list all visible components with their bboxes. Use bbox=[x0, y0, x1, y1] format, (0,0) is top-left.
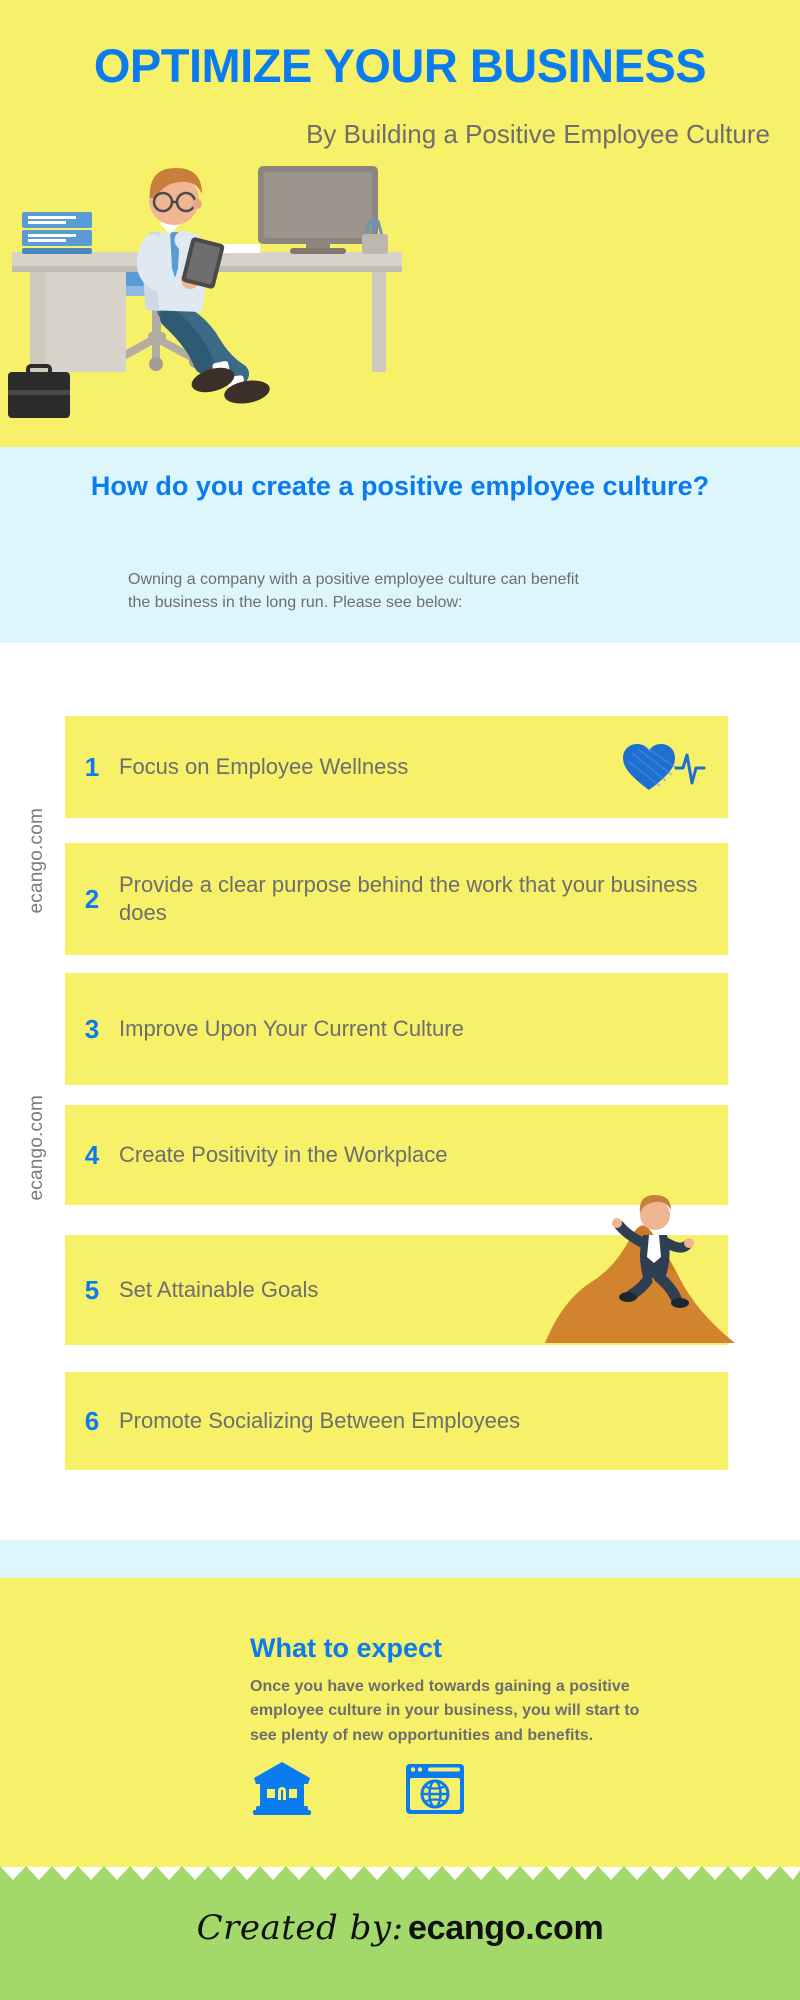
list-item[interactable]: 3 Improve Upon Your Current Culture bbox=[65, 973, 728, 1085]
person-seated bbox=[144, 168, 272, 407]
tips-list-section: 1 Focus on Employee Wellness 2 Provide a… bbox=[0, 643, 800, 1498]
footer-section: Created by: ecango.com bbox=[0, 1880, 800, 2000]
infographic-page: OPTIMIZE YOUR BUSINESS By Building a Pos… bbox=[0, 0, 800, 2000]
list-item-number: 1 bbox=[65, 752, 119, 783]
footer-brand-text: ecango.com bbox=[408, 1909, 603, 1947]
intro-heading: How do you create a positive employee cu… bbox=[60, 467, 740, 506]
list-item[interactable]: 4 Create Positivity in the Workplace bbox=[65, 1105, 728, 1205]
what-to-expect-section: What to expect Once you have worked towa… bbox=[0, 1578, 800, 1867]
hero-section: OPTIMIZE YOUR BUSINESS By Building a Pos… bbox=[0, 0, 800, 447]
list-item-number: 5 bbox=[65, 1275, 119, 1306]
footer-created-by-text: Created by: bbox=[197, 1908, 404, 1948]
page-title: OPTIMIZE YOUR BUSINESS bbox=[0, 42, 800, 91]
bank-building-icon bbox=[250, 1760, 314, 1818]
blue-divider-strip bbox=[0, 1540, 800, 1578]
intro-section: How do you create a positive employee cu… bbox=[0, 447, 800, 643]
intro-paragraph: Owning a company with a positive employe… bbox=[128, 569, 598, 614]
briefcase bbox=[8, 366, 70, 418]
list-item[interactable]: 5 Set Attainable Goals bbox=[65, 1235, 728, 1345]
list-item-number: 2 bbox=[65, 884, 119, 915]
footer-credit: Created by: ecango.com bbox=[0, 1908, 800, 1948]
folder-stack bbox=[22, 212, 92, 254]
expect-paragraph: Once you have worked towards gaining a p… bbox=[250, 1675, 650, 1748]
expect-heading: What to expect bbox=[250, 1633, 442, 1664]
list-item-label: Improve Upon Your Current Culture bbox=[119, 1015, 728, 1043]
browser-globe-icon bbox=[404, 1760, 466, 1818]
expect-icon-row bbox=[250, 1760, 550, 1818]
watermark-ecango-top: ecango.com bbox=[26, 808, 48, 914]
list-item[interactable]: 1 Focus on Employee Wellness bbox=[65, 716, 728, 818]
list-item-number: 3 bbox=[65, 1014, 119, 1045]
list-item-label: Set Attainable Goals bbox=[119, 1276, 728, 1304]
list-item-label: Provide a clear purpose behind the work … bbox=[119, 871, 728, 926]
list-item-number: 6 bbox=[65, 1406, 119, 1437]
list-item[interactable]: 2 Provide a clear purpose behind the wor… bbox=[65, 843, 728, 955]
watermark-ecango-bottom: ecango.com bbox=[26, 1095, 48, 1201]
man-at-desk-illustration bbox=[0, 140, 420, 447]
list-item-label: Create Positivity in the Workplace bbox=[119, 1141, 728, 1169]
list-item-label: Promote Socializing Between Employees bbox=[119, 1407, 728, 1435]
computer-monitor bbox=[258, 166, 378, 254]
list-item-label: Focus on Employee Wellness bbox=[119, 753, 728, 781]
list-item-number: 4 bbox=[65, 1140, 119, 1171]
list-item[interactable]: 6 Promote Socializing Between Employees bbox=[65, 1372, 728, 1470]
